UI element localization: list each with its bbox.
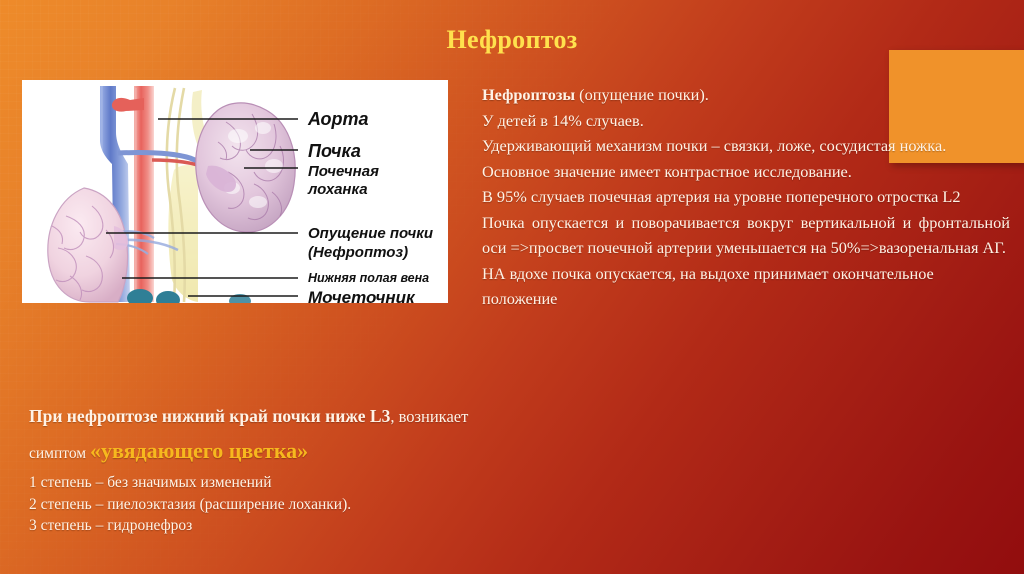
label-vena-cava: Нижняя полая вена	[308, 271, 429, 285]
label-renal-pelvis-line2: лоханка	[307, 181, 368, 198]
label-nephroptosis-line2: (Нефроптоз)	[308, 244, 408, 261]
slide-root: Нефроптоз	[0, 0, 1024, 574]
body-line-4: Основное значение имеет контрастное иссл…	[482, 159, 1010, 185]
bottom-text-block: При нефроптозе нижний край почки ниже L3…	[29, 405, 679, 537]
bottom-line-1-strong: При нефроптозе нижний край почки ниже L3	[29, 406, 390, 426]
label-kidney: Почка	[308, 141, 361, 161]
bottom-line-2-prefix: симптом	[29, 445, 90, 462]
label-aorta: Аорта	[307, 109, 369, 129]
symptom-highlight: «увядающего цветка»	[90, 438, 308, 463]
body-lead-rest: (опущение почки).	[575, 85, 709, 104]
label-nephroptosis-line1: Опущение почки	[308, 225, 433, 242]
bottom-line-1-rest: , возникает	[390, 407, 468, 426]
degree-item: 1 степень – без значимых изменений	[29, 472, 679, 494]
degree-item: 2 степень – пиелоэктазия (расширение лох…	[29, 494, 679, 516]
anatomy-figure: Аорта Почка Почечная лоханка Опущение по…	[22, 80, 448, 303]
degree-list: 1 степень – без значимых изменений 2 сте…	[29, 472, 679, 537]
bottom-line-2: симптом «увядающего цветка»	[29, 439, 679, 466]
body-line-3: Удерживающий механизм почки – связки, ло…	[482, 133, 1010, 159]
body-line-5: В 95% случаев почечная артерия на уровне…	[482, 184, 1010, 210]
aorta-branch	[112, 98, 144, 112]
body-lead: Нефроптозы	[482, 85, 575, 104]
body-line-1: Нефроптозы (опущение почки).	[482, 82, 1010, 108]
body-line-7: НА вдохе почка опускается, на выдохе при…	[482, 261, 1010, 312]
body-line-2: У детей в 14% случаев.	[482, 108, 1010, 134]
aorta	[134, 86, 154, 302]
label-ureter: Мочеточник	[308, 288, 416, 303]
bottom-line-1: При нефроптозе нижний край почки ниже L3…	[29, 405, 679, 428]
body-line-6: Почка опускается и поворачивается вокруг…	[482, 210, 1010, 261]
page-title: Нефроптоз	[0, 25, 1024, 55]
degree-item: 3 степень – гидронефроз	[29, 515, 679, 537]
anatomy-diagram-svg: Аорта Почка Почечная лоханка Опущение по…	[22, 80, 448, 303]
body-text-block: Нефроптозы (опущение почки). У детей в 1…	[482, 82, 1010, 312]
label-renal-pelvis-line1: Почечная	[308, 163, 379, 180]
